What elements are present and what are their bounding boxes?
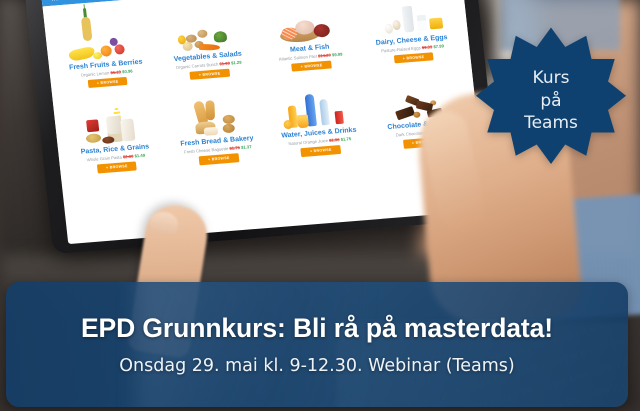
category-product: Atlantic Salmon Filet $14.20 $9.99 (278, 51, 342, 61)
old-price: $1.19 (110, 69, 121, 75)
event-banner: EPD Grunnkurs: Bli rå på masterdata! Ons… (6, 282, 628, 407)
event-title: EPD Grunnkurs: Bli rå på masterdata! (81, 313, 553, 344)
browse-button[interactable]: + BROWSE (393, 52, 434, 64)
old-price: $9.99 (422, 44, 433, 50)
pasta-illustration (59, 89, 164, 149)
product-name: Organic Lemon (80, 70, 109, 77)
new-price: $0.96 (122, 68, 133, 74)
category-card[interactable]: Vegetables & Salads Organic Carrots Bunc… (151, 0, 261, 86)
old-price: $1.98 (329, 137, 340, 143)
nav-item-home[interactable]: HOME (51, 0, 67, 2)
promo-banner-image: SHOP HOME DAILY DEALS FRUITS VEGETABLES … (0, 0, 640, 411)
category-card[interactable]: Water, Juices & Drinks Natural Orange Ju… (262, 70, 372, 162)
old-price: $1.99 (219, 60, 230, 66)
fruits-illustration (50, 4, 155, 64)
starburst-icon (476, 26, 626, 176)
category-card[interactable]: Fresh Bread & Bakery Fresh Cheese Baguet… (160, 78, 270, 170)
browse-button[interactable]: + BROWSE (189, 68, 230, 80)
category-card[interactable]: Meat & Fish Atlantic Salmon Filet $14.20… (253, 0, 363, 77)
old-price: $2.30 (123, 153, 134, 159)
category-card[interactable]: Pasta, Rice & Grains Whole Grain Pasta $… (58, 87, 168, 179)
new-price: $9.99 (332, 51, 343, 57)
browse-button[interactable]: + BROWSE (97, 161, 138, 173)
category-card[interactable]: Fresh Fruits & Berries Organic Lemon $1.… (49, 2, 159, 94)
dairy-illustration (356, 0, 461, 39)
tablet-screen: SHOP HOME DAILY DEALS FRUITS VEGETABLES … (39, 0, 487, 244)
meat-fish-illustration (254, 0, 359, 47)
product-name: Natural Orange Juice (288, 138, 328, 146)
category-card[interactable]: Dairy, Cheese & Eggs Pasture-Raised Eggs… (355, 0, 465, 69)
vegetables-illustration (152, 0, 257, 55)
category-grid: Fresh Fruits & Berries Organic Lemon $1.… (42, 0, 480, 181)
bakery-illustration (161, 80, 266, 140)
old-price: $14.20 (318, 52, 331, 58)
new-price: $1.49 (134, 152, 145, 158)
browse-button[interactable]: + BROWSE (87, 76, 128, 88)
new-price: $1.75 (340, 136, 351, 142)
drinks-illustration (263, 72, 368, 132)
product-name: Pasture-Raised Eggs (381, 45, 421, 53)
product-name: Atlantic Salmon Filet (278, 53, 317, 61)
old-price: $1.75 (229, 145, 240, 151)
new-price: $1.29 (231, 59, 242, 65)
browse-button[interactable]: + BROWSE (291, 60, 332, 72)
browse-button[interactable]: + BROWSE (199, 153, 240, 165)
banner-sheen (136, 282, 366, 407)
product-name: Whole Grain Pasta (86, 154, 122, 162)
new-price: $7.99 (433, 43, 444, 49)
event-details: Onsdag 29. mai kl. 9-12.30. Webinar (Tea… (119, 356, 515, 376)
new-price: $1.37 (241, 144, 252, 150)
starburst-badge: Kurs på Teams (476, 26, 626, 176)
product-name: Dark Chocolate (395, 130, 424, 137)
browse-button[interactable]: + BROWSE (301, 145, 342, 157)
